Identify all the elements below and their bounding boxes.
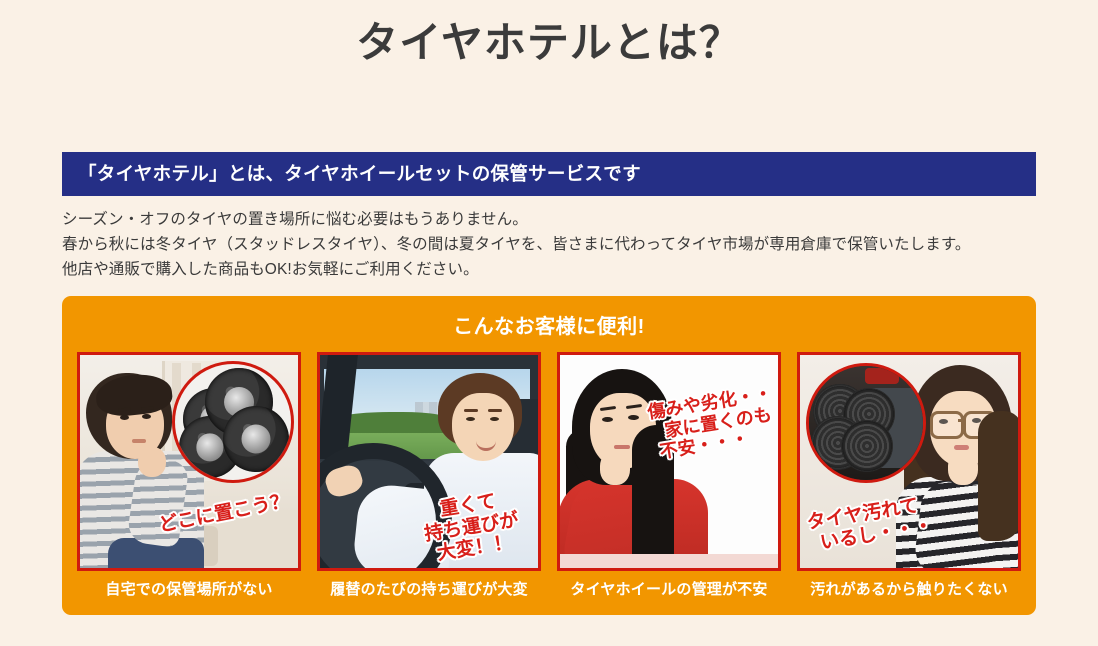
promo-card[interactable]: どこに置こう？ 自宅での保管場所がない: [77, 352, 301, 599]
promo-card[interactable]: タイヤ汚れて いるし・・・ 汚れがあるから触りたくない: [797, 352, 1021, 599]
promo-panel: こんなお客様に便利!: [62, 296, 1036, 615]
promo-photo-worried-woman: 傷みや劣化・・・ 家に置くのも 不安・・・: [557, 352, 781, 571]
promo-heading: こんなお客様に便利!: [62, 310, 1036, 339]
lead-line-3: 他店や通販で購入した商品もOK!お気軽にご利用ください。: [62, 257, 1036, 282]
promo-card-list: どこに置こう？ 自宅での保管場所がない: [62, 352, 1036, 599]
promo-card-caption: タイヤホイールの管理が不安: [557, 578, 781, 599]
section-banner: 「タイヤホテル」とは、タイヤホイールセットの保管サービスです: [62, 152, 1036, 196]
dirty-tires-inset-icon: [806, 363, 926, 483]
lead-paragraph: シーズン・オフのタイヤの置き場所に悩む必要はもうありません。 春から秋には冬タイ…: [62, 207, 1036, 282]
promo-card-caption: 履替のたびの持ち運びが大変: [317, 578, 541, 599]
content-wrapper: 「タイヤホテル」とは、タイヤホイールセットの保管サービスです シーズン・オフのタ…: [62, 152, 1036, 615]
promo-card[interactable]: 重くて 持ち運びが 大変！！ 履替のたびの持ち運びが大変: [317, 352, 541, 599]
scene-illustration: [80, 355, 298, 568]
lead-line-1: シーズン・オフのタイヤの置き場所に悩む必要はもうありません。: [62, 207, 1036, 232]
page-title: タイヤホテルとは？: [0, 0, 1098, 68]
promo-photo-driving: 重くて 持ち運びが 大変！！: [317, 352, 541, 571]
promo-card-caption: 自宅での保管場所がない: [77, 578, 301, 599]
lead-line-2: 春から秋には冬タイヤ（スタッドレスタイヤ）、冬の間は夏タイヤを、皆さまに代わって…: [62, 232, 1036, 257]
promo-photo-home-storage: どこに置こう？: [77, 352, 301, 571]
promo-photo-dirty-tires: タイヤ汚れて いるし・・・: [797, 352, 1021, 571]
promo-card[interactable]: 傷みや劣化・・・ 家に置くのも 不安・・・ タイヤホイールの管理が不安: [557, 352, 781, 599]
promo-card-caption: 汚れがあるから触りたくない: [797, 578, 1021, 599]
tire-stack-inset-icon: [172, 361, 294, 483]
